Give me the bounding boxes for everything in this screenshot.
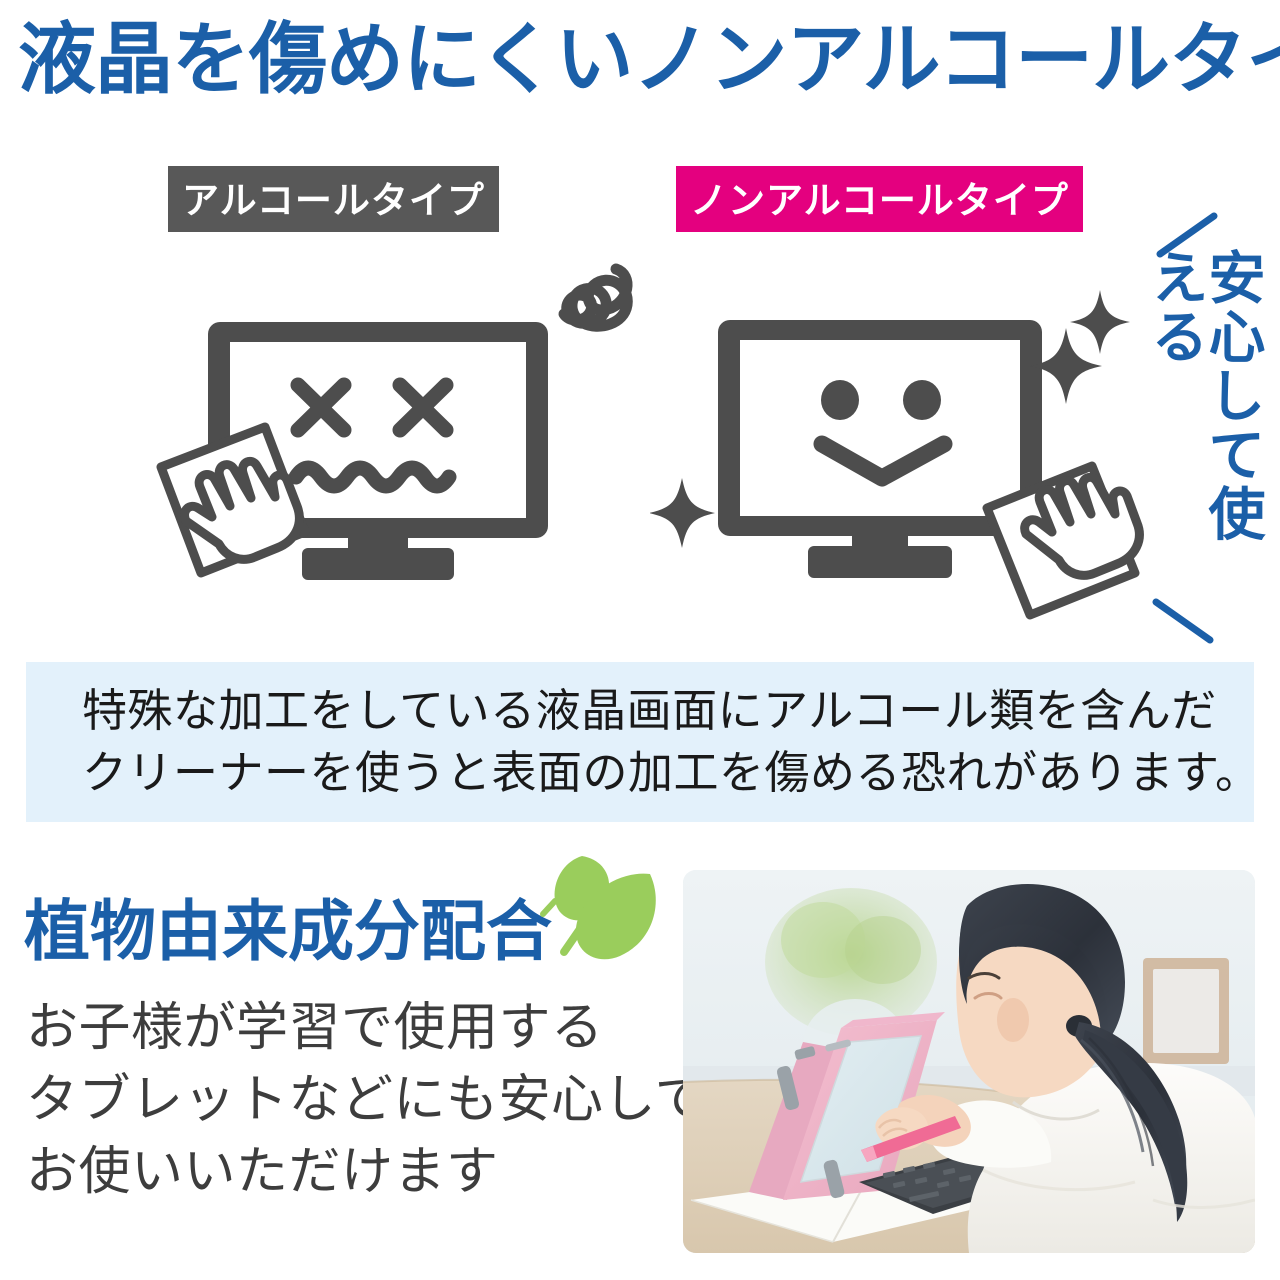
plant-body-line-1: お子様が学習で使用する [26, 992, 666, 1064]
caption-line-1: 特殊な加工をしている液晶画面にアルコール類を含んだ [82, 680, 1254, 742]
happy-monitor-icon [718, 320, 1042, 578]
smile-face-icon [821, 380, 941, 420]
smile-mouth-icon [822, 444, 944, 478]
plant-body-line-2: タブレットなどにも安心して [26, 1064, 666, 1136]
plant-body-line-3: お使いいただけます [26, 1136, 666, 1208]
infographic-page: 液晶を傷めにくいノンアルコールタイプ アルコールタイプ ノンアルコールタイプ [0, 0, 1280, 1280]
side-note-text: 安心して使える [1146, 248, 1260, 588]
girl-using-tablet-photo [683, 870, 1255, 1253]
sad-monitor-illustration [120, 240, 640, 640]
two-leaves-icon [524, 852, 674, 970]
plant-section-heading: 植物由来成分配合 [24, 878, 552, 974]
page-title: 液晶を傷めにくいノンアルコールタイプ [18, 12, 1268, 106]
slash-mark-bottom-icon [1152, 598, 1214, 644]
badge-non-alcohol-type: ノンアルコールタイプ [676, 166, 1083, 232]
x-eyes-and-wavy-mouth-icon [296, 385, 449, 486]
badge-alcohol-type: アルコールタイプ [168, 166, 499, 232]
plant-section-body: お子様が学習で使用する タブレットなどにも安心して お使いいただけます [26, 992, 666, 1208]
happy-monitor-illustration [650, 240, 1170, 640]
caption-box: 特殊な加工をしている液晶画面にアルコール類を含んだ クリーナーを使うと表面の加工… [26, 662, 1254, 822]
caption-line-2: クリーナーを使うと表面の加工を傷める恐れがあります。 [82, 742, 1254, 804]
spiral-squiggle-icon [564, 269, 627, 326]
